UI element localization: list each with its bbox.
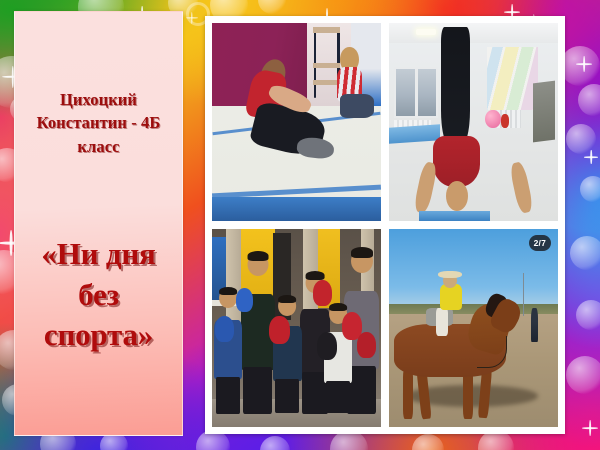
- rider-shirt: [440, 284, 462, 310]
- headstand-shirt: [433, 136, 480, 187]
- boxing-glove-icon: [215, 316, 234, 342]
- boxing-glove-icon: [269, 316, 289, 344]
- ceiling-lamp-icon: [416, 29, 436, 35]
- headstand-legs: [441, 27, 470, 146]
- child-foot: [296, 136, 335, 160]
- pole: [523, 273, 525, 317]
- blue-mat: [419, 211, 490, 221]
- rider-hat-icon: [438, 271, 462, 279]
- fire-extinguisher-icon: [501, 114, 509, 128]
- boxing-glove-icon: [357, 332, 376, 358]
- photo-horse-riding[interactable]: 2/7: [389, 229, 558, 427]
- blue-mat: [389, 124, 440, 143]
- wall-art: [487, 47, 538, 110]
- rider-leg: [436, 308, 448, 336]
- page-counter-badge: 2/7: [529, 235, 551, 251]
- exercise-ball-icon: [485, 110, 500, 128]
- boxing-glove-icon: [313, 280, 332, 306]
- boxing-glove-icon: [236, 288, 253, 312]
- headstand-arm-right: [509, 161, 535, 215]
- horse-leg: [403, 368, 413, 419]
- window-icon: [394, 67, 438, 118]
- photo-boxing-group[interactable]: [212, 229, 381, 427]
- photo-grid: 2/7: [212, 23, 558, 427]
- bystander: [531, 308, 538, 342]
- headstand-head: [446, 181, 468, 211]
- author-line: Цихоцкий Константин - 4Б класс: [24, 88, 174, 158]
- gym-panel: [533, 81, 555, 143]
- headstand-arm-left: [413, 161, 439, 215]
- motto-line-2: без: [18, 275, 180, 315]
- motto-quote: «Ни дня без спорта»: [18, 234, 180, 355]
- boxing-kid: [273, 296, 302, 411]
- photo-headstand[interactable]: [389, 23, 558, 221]
- title-panel: Цихоцкий Константин - 4Б класс «Ни дня б…: [14, 11, 183, 436]
- photo-stretching[interactable]: [212, 23, 381, 221]
- presentation-slide: Цихоцкий Константин - 4Б класс «Ни дня б…: [0, 0, 600, 450]
- photo-collage-frame: 2/7: [205, 16, 565, 434]
- motto-line-3: спорта»: [18, 315, 180, 355]
- ceiling: [389, 23, 558, 43]
- boxing-glove-icon: [317, 332, 337, 360]
- second-child-legs: [340, 94, 374, 118]
- motto-line-1: «Ни дня: [18, 234, 180, 274]
- mat-edge: [212, 197, 381, 221]
